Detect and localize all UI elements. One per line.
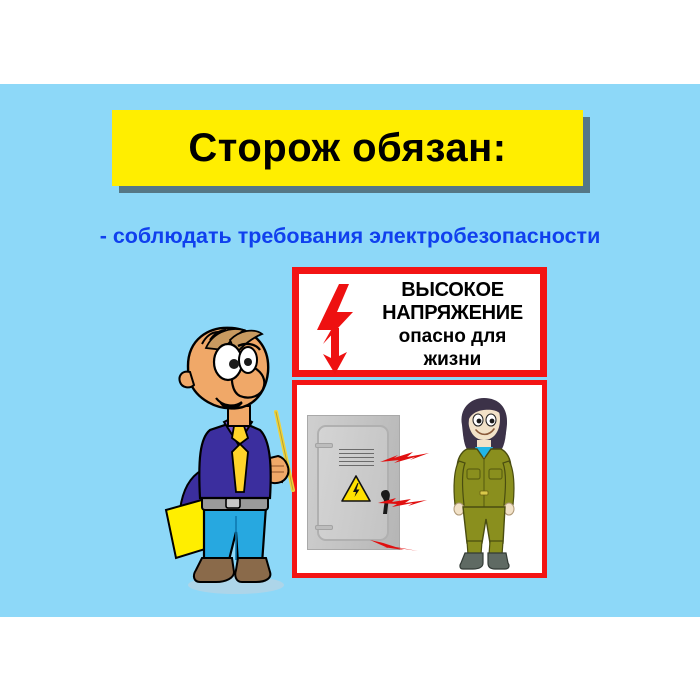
- warning-line-1: ВЫСОКОЕ: [361, 279, 544, 302]
- cabinet-vent-slats: [339, 449, 374, 465]
- electric-shock-warning-triangle-icon: [341, 475, 371, 502]
- warning-line-2: НАПРЯЖЕНИЕ: [361, 302, 544, 325]
- warning-line-4: жизни: [361, 348, 544, 371]
- electric-spark-icon: [370, 538, 420, 552]
- electric-spark-icon: [378, 496, 428, 510]
- slide-background: Сторож обязан: - соблюдать требования эл…: [0, 84, 700, 617]
- warning-sign-text: ВЫСОКОЕ НАПРЯЖЕНИЕ опасно для жизни: [361, 279, 544, 371]
- guard-character: [158, 320, 328, 595]
- title-banner: Сторож обязан:: [112, 110, 583, 186]
- warning-line-3: опасно для: [361, 325, 544, 348]
- high-voltage-warning-sign: ВЫСОКОЕ НАПРЯЖЕНИЕ опасно для жизни: [292, 267, 547, 377]
- illustration-panel: [292, 380, 547, 578]
- page-title: Сторож обязан:: [112, 110, 583, 186]
- worker-in-uniform: [437, 395, 529, 571]
- electric-spark-icon: [380, 451, 430, 465]
- subtitle-text: - соблюдать требования электробезопаснос…: [0, 224, 700, 249]
